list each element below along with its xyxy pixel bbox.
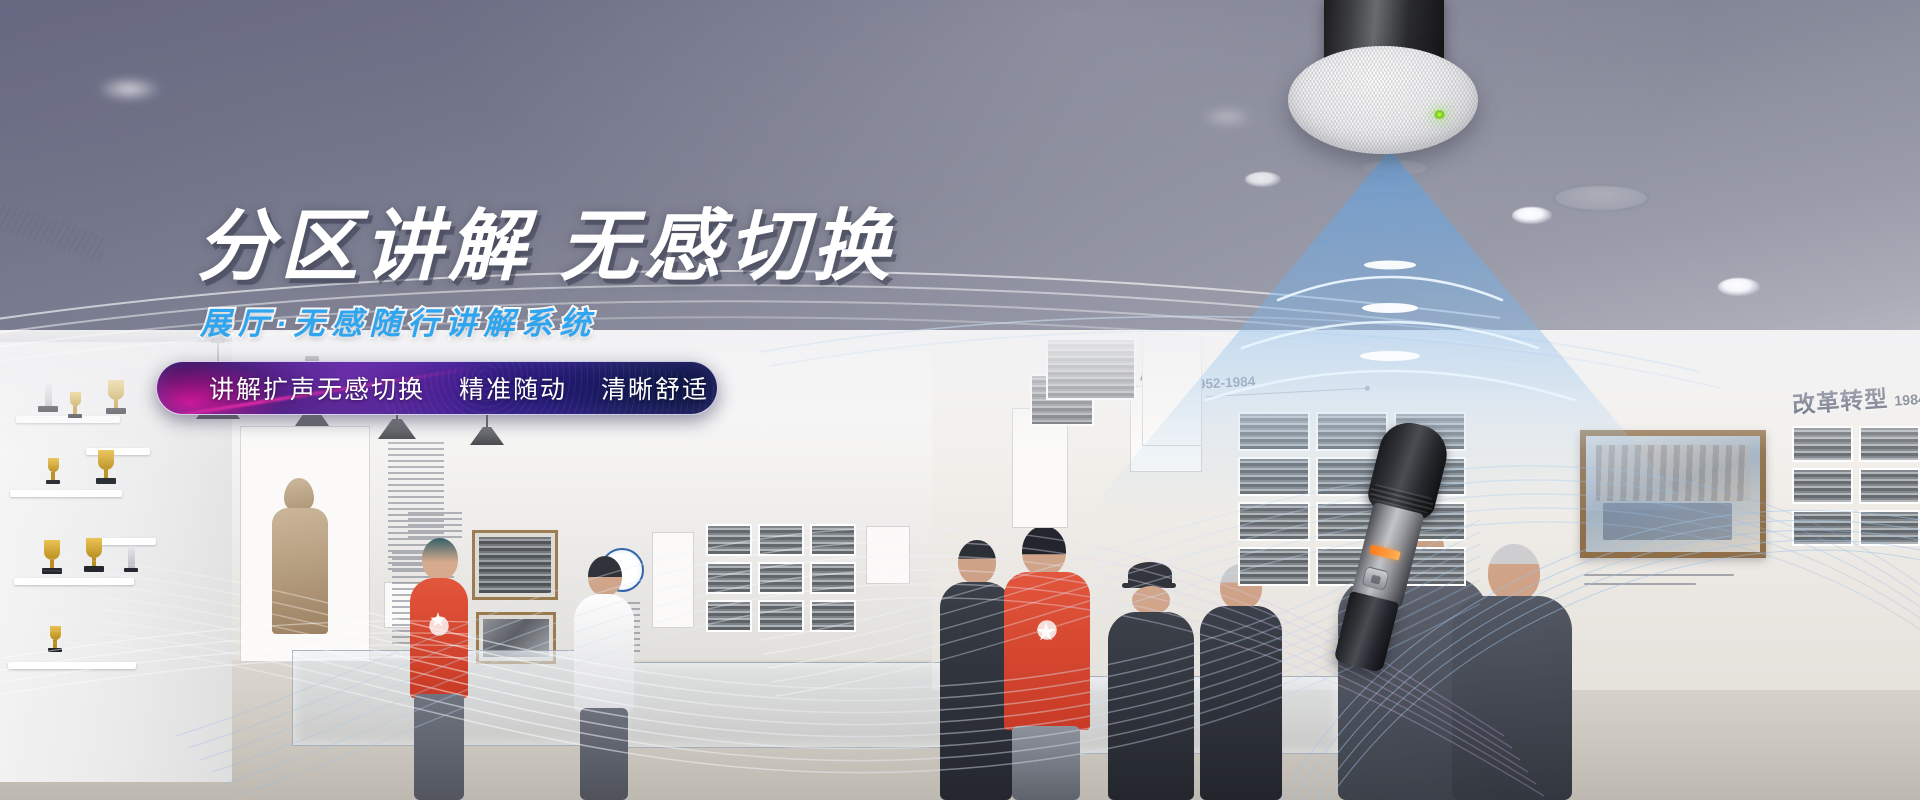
downlight-1: [1512, 207, 1552, 224]
ceiling-highlight-mid: [1200, 108, 1254, 126]
speaker-grille: [1288, 46, 1478, 154]
page-title: 分区讲解 无感切换: [196, 205, 896, 288]
mic-grip: [1333, 591, 1399, 673]
tagline-item-3: 清晰舒适: [601, 370, 709, 406]
speaker-led-indicator: [1433, 110, 1446, 119]
ceiling-speaker-outline-right: [1553, 184, 1649, 212]
tagline-list: 讲解扩声无感切换 精准随动 清晰舒适: [157, 370, 709, 406]
tagline-pill: 讲解扩声无感切换 精准随动 清晰舒适: [156, 361, 718, 415]
ceiling-highlight-left: [96, 78, 162, 100]
banner-copy: 分区讲解 无感切换 展厅·无感随行讲解系统 讲解扩声无感切换 精准随动 清晰舒适: [196, 205, 896, 415]
tagline-item-1: 讲解扩声无感切换: [209, 370, 425, 406]
downlight-3: [1245, 172, 1281, 187]
tagline-item-2: 精准随动: [459, 370, 567, 406]
page-subtitle: 展厅·无感随行讲解系统: [200, 298, 896, 343]
hero-banner: 谋求发展1952-1984 改革转型1984-2010: [0, 0, 1920, 800]
downlight-2: [1718, 278, 1760, 296]
